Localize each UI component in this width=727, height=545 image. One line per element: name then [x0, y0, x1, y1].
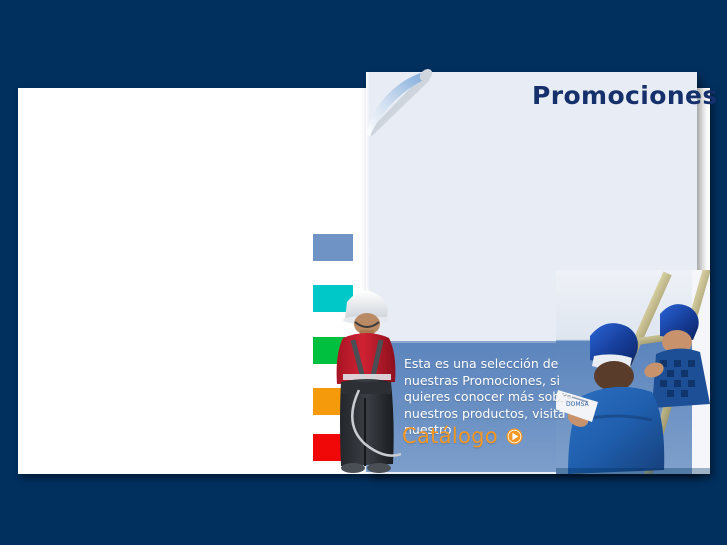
catalog-link-label: Catálogo [402, 424, 498, 448]
color-bar-blue[interactable] [313, 234, 353, 261]
page-root: Promociones [0, 0, 727, 545]
catalog-link[interactable]: Catálogo [402, 424, 523, 448]
worker-red-shirt-photo [329, 278, 401, 474]
play-circle-icon[interactable] [506, 428, 523, 445]
page-title: Promociones [532, 81, 718, 110]
